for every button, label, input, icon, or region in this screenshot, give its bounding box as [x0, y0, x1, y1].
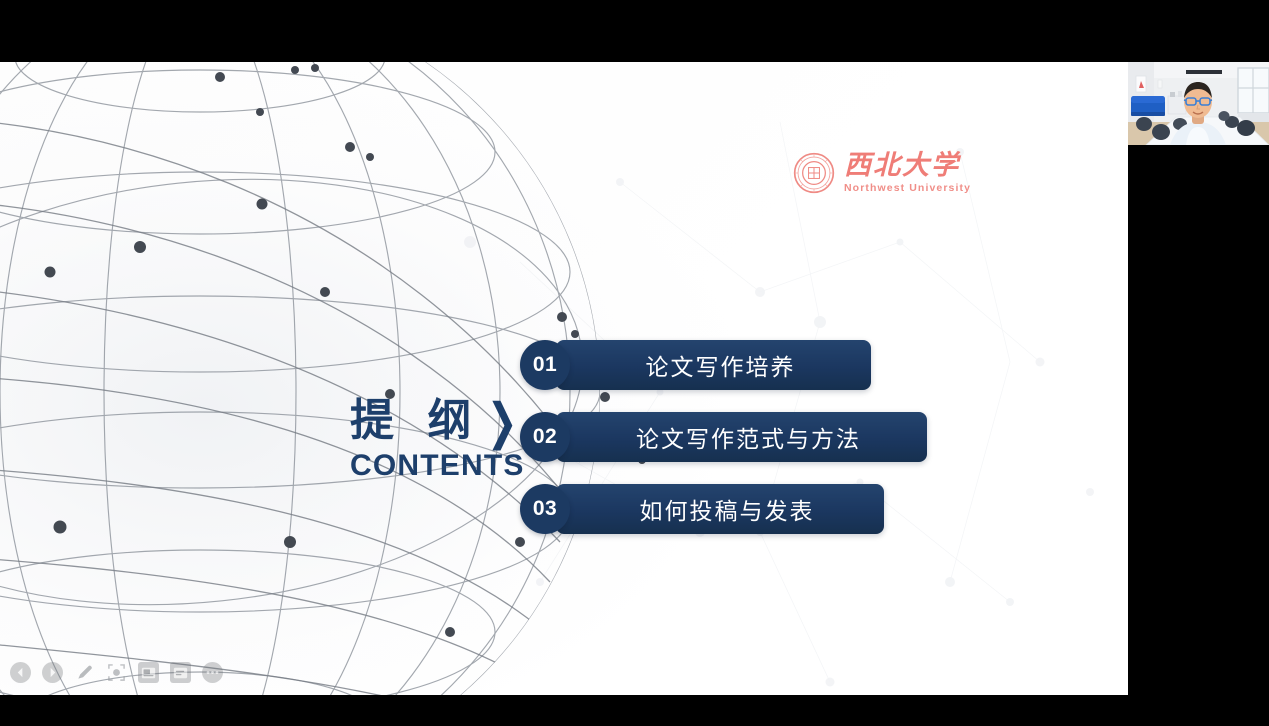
contents-number-badge: 02	[520, 412, 570, 462]
contents-label-bar: 论文写作培养	[556, 340, 871, 390]
presenter-video-thumbnail[interactable]	[1128, 62, 1269, 145]
letterbox-top	[0, 0, 1269, 62]
contents-heading-en: CONTENTS	[350, 451, 530, 481]
next-arrow-icon[interactable]	[42, 662, 63, 683]
laser-pointer-icon[interactable]	[106, 662, 127, 683]
university-name-cn: 西北大学	[844, 152, 971, 179]
slide-grid-icon[interactable]	[138, 662, 159, 683]
contents-item-02[interactable]: 02 论文写作范式与方法	[520, 412, 927, 462]
contents-heading-cn-text: 提 纲	[350, 399, 480, 443]
university-seal-icon	[793, 152, 835, 194]
letterbox-bottom	[0, 695, 1269, 726]
presentation-slide[interactable]: 西北大学 Northwest University 提 纲 ❯ CONTENTS…	[0, 62, 1128, 695]
contents-label-bar: 如何投稿与发表	[556, 484, 884, 534]
pen-icon[interactable]	[74, 662, 95, 683]
contents-item-03[interactable]: 03 如何投稿与发表	[520, 484, 927, 534]
presenter-video-frame	[1128, 62, 1269, 145]
previous-arrow-icon[interactable]	[10, 662, 31, 683]
contents-item-01[interactable]: 01 论文写作培养	[520, 340, 927, 390]
contents-heading-cn: 提 纲 ❯	[350, 398, 530, 444]
university-logo: 西北大学 Northwest University	[793, 152, 971, 194]
logo-text-block: 西北大学 Northwest University	[844, 152, 971, 194]
contents-number-badge: 01	[520, 340, 570, 390]
screen-share-viewport: 西北大学 Northwest University 提 纲 ❯ CONTENTS…	[0, 0, 1269, 726]
subtitles-icon[interactable]	[170, 662, 191, 683]
ellipsis-icon[interactable]	[202, 662, 223, 683]
university-name-en: Northwest University	[844, 183, 971, 194]
presentation-toolbar[interactable]	[10, 662, 223, 683]
contents-number-badge: 03	[520, 484, 570, 534]
right-black-gutter	[1128, 145, 1269, 726]
contents-list: 01 论文写作培养 02 论文写作范式与方法 03 如何投稿与发表	[520, 340, 927, 556]
contents-label-bar: 论文写作范式与方法	[556, 412, 927, 462]
contents-title-block: 提 纲 ❯ CONTENTS	[350, 398, 530, 481]
